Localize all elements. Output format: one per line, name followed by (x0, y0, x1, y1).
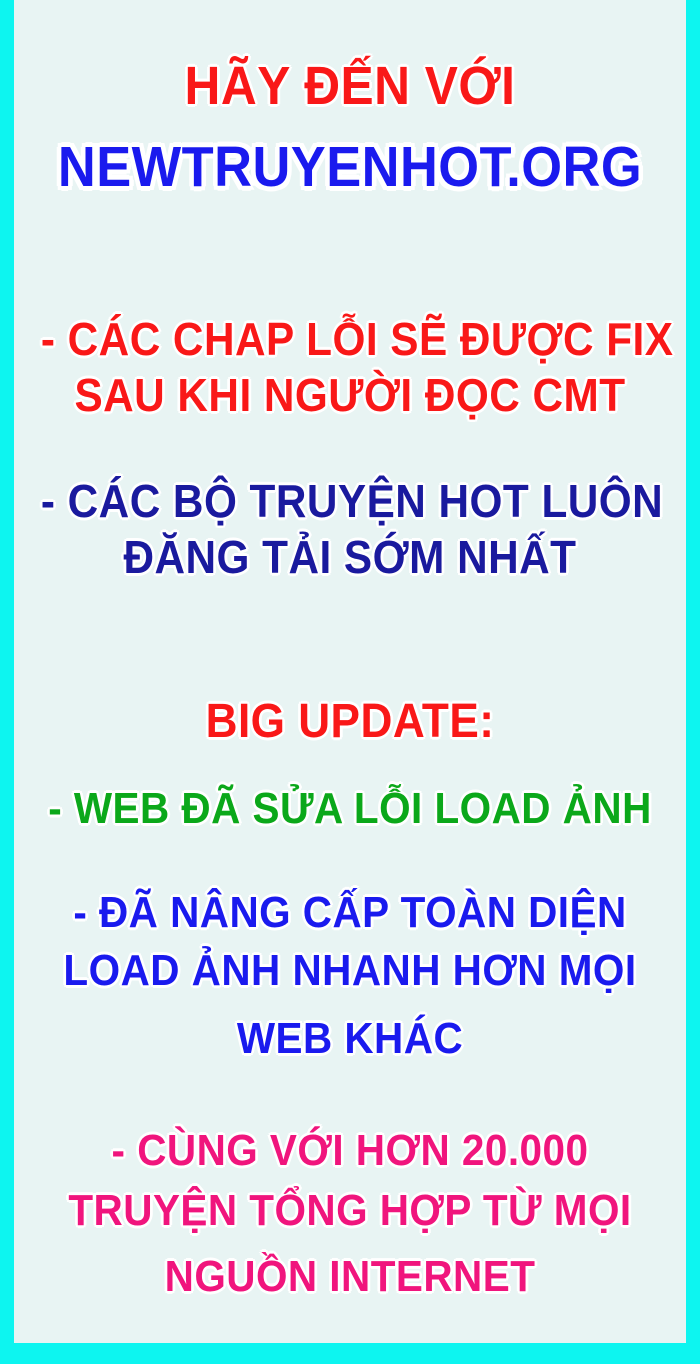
bugfix-notice-line-1: - CÁC CHAP LỖI SẼ ĐƯỢC FIX (14, 316, 686, 364)
library-size-line-3: NGUỒN INTERNET (14, 1254, 686, 1300)
hot-series-notice-text-1: - CÁC BỘ TRUYỆN HOT LUÔN (41, 478, 659, 526)
library-size-line-2: TRUYỆN TỔNG HỢP TỪ MỌI (14, 1188, 686, 1234)
library-size-text-1: - CÙNG VỚI HƠN 20.000 (41, 1128, 659, 1174)
full-upgrade-text-1: - ĐÃ NÂNG CẤP TOÀN DIỆN (41, 890, 659, 936)
hot-series-notice-text-2: ĐĂNG TẢI SỚM NHẤT (41, 534, 659, 582)
library-size-text-3: NGUỒN INTERNET (41, 1254, 659, 1300)
library-size-text-2: TRUYỆN TỔNG HỢP TỪ MỌI (41, 1188, 659, 1234)
full-upgrade-text-3: WEB KHÁC (41, 1016, 659, 1062)
site-name-link[interactable]: NEWTRUYENHOT.ORG (41, 138, 659, 197)
bugfix-notice-text-1: - CÁC CHAP LỖI SẼ ĐƯỢC FIX (41, 316, 659, 364)
promo-banner: HÃY ĐẾN VỚI NEWTRUYENHOT.ORG - CÁC CHAP … (0, 0, 700, 1368)
bugfix-notice-line-2: SAU KHI NGƯỜI ĐỌC CMT (14, 372, 686, 420)
full-upgrade-text-2: LOAD ẢNH NHANH HƠN MỌI (41, 948, 659, 994)
banner-panel: HÃY ĐẾN VỚI NEWTRUYENHOT.ORG - CÁC CHAP … (14, 0, 686, 1343)
full-upgrade-line-3: WEB KHÁC (14, 1016, 686, 1062)
image-load-fixed-line-1: - WEB ĐÃ SỬA LỖI LOAD ẢNH (14, 786, 686, 832)
hot-series-notice-line-1: - CÁC BỘ TRUYỆN HOT LUÔN (14, 478, 686, 526)
library-size-line-1: - CÙNG VỚI HƠN 20.000 (14, 1128, 686, 1174)
bottom-hairline (0, 1364, 700, 1368)
header-tagline-row: HÃY ĐẾN VỚI (14, 58, 686, 114)
big-update-heading-row: BIG UPDATE: (14, 697, 686, 747)
full-upgrade-line-2: LOAD ẢNH NHANH HƠN MỌI (14, 948, 686, 994)
full-upgrade-line-1: - ĐÃ NÂNG CẤP TOÀN DIỆN (14, 890, 686, 936)
header-tagline: HÃY ĐẾN VỚI (41, 58, 659, 114)
site-name-row[interactable]: NEWTRUYENHOT.ORG (14, 138, 686, 197)
image-load-fixed-text-1: - WEB ĐÃ SỬA LỖI LOAD ẢNH (41, 786, 659, 832)
big-update-heading: BIG UPDATE: (41, 697, 659, 747)
bugfix-notice-text-2: SAU KHI NGƯỜI ĐỌC CMT (41, 372, 659, 420)
hot-series-notice-line-2: ĐĂNG TẢI SỚM NHẤT (14, 534, 686, 582)
